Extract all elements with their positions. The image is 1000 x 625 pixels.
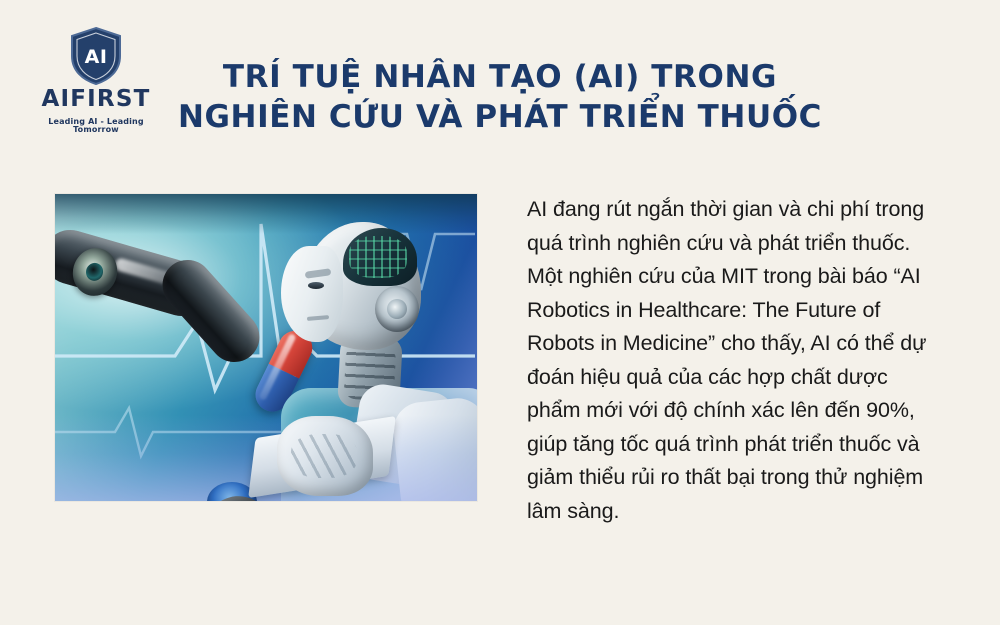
robot-ear-module <box>375 286 419 332</box>
page-title-line-2: NGHIÊN CỨU VÀ PHÁT TRIỂN THUỐC <box>170 98 830 138</box>
robot-eye <box>308 282 324 289</box>
body-paragraph: AI đang rút ngắn thời gian và chi phí tr… <box>527 193 931 528</box>
brand-wordmark: AIFIRST <box>26 88 166 111</box>
page-title: TRÍ TUỆ NHÂN TẠO (AI) TRONG NGHIÊN CỨU V… <box>170 58 830 137</box>
robot-hand <box>277 416 373 496</box>
brand-tagline: Leading AI - Leading Tomorrow <box>26 118 166 134</box>
shield-ai-icon: AI <box>68 26 124 86</box>
slide-canvas: AI AIFIRST Leading AI - Leading Tomorrow… <box>0 0 1000 625</box>
robot-face <box>281 246 343 342</box>
brand-logo[interactable]: AI AIFIRST Leading AI - Leading Tomorrow <box>26 26 166 134</box>
body-copy: AI đang rút ngắn thời gian và chi phí tr… <box>527 193 931 528</box>
svg-text:AI: AI <box>85 46 108 68</box>
illustration-image <box>55 194 477 501</box>
page-title-line-1: TRÍ TUỆ NHÂN TẠO (AI) TRONG <box>170 58 830 98</box>
